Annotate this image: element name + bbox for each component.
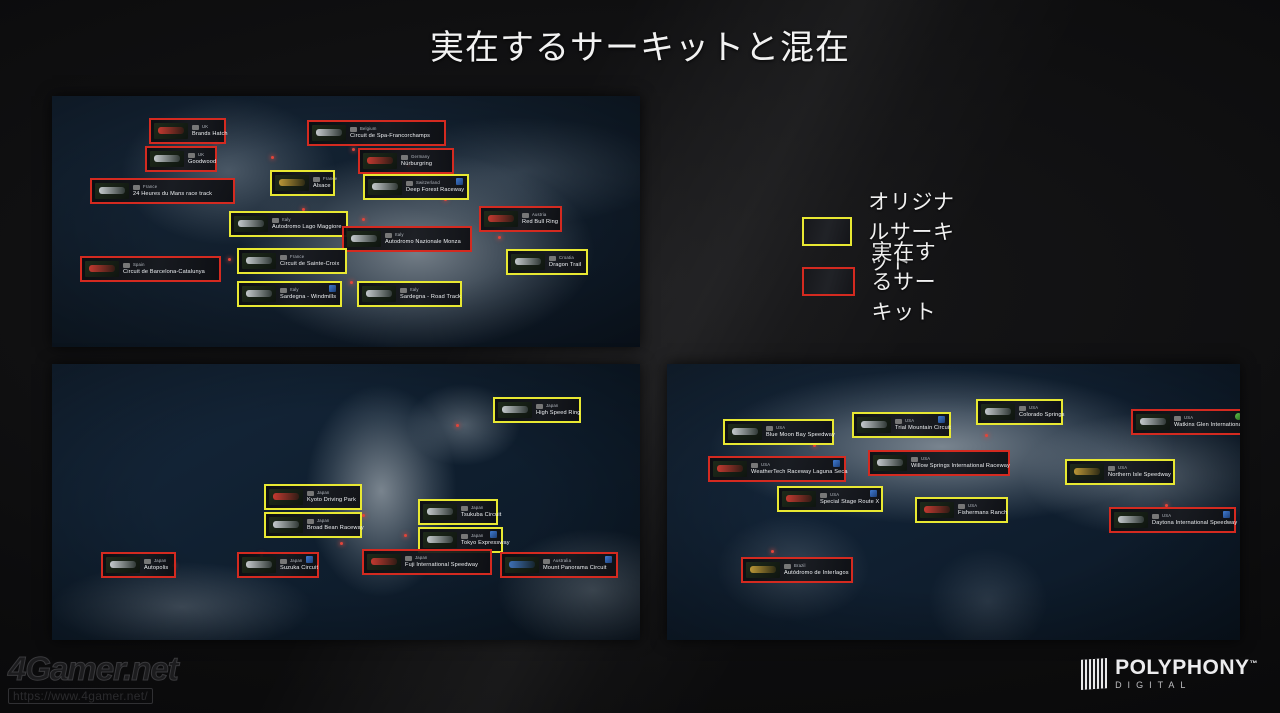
circuit-badge-icon: [456, 178, 463, 185]
circuit-thumbnail-icon: [95, 183, 129, 199]
circuit-thumbnail-icon: [269, 517, 303, 533]
watermark-brand: 4Gamer.net: [8, 652, 178, 686]
circuit-name-label: Mount Panorama Circuit: [543, 564, 600, 572]
circuit-text: USAWatkins Glen International: [1174, 415, 1230, 429]
map-poi: [771, 550, 774, 553]
circuit-name-label: Autódromo de Interlagos: [784, 569, 847, 577]
presentation-slide: 実在するサーキットと混在 UKBrands HatchUKGoodwoodFra…: [0, 0, 1280, 713]
circuit-name-label: Circuit de Spa-Francorchamps: [350, 132, 430, 140]
circuit-marker[interactable]: JapanFuji International Speedway: [362, 549, 492, 575]
circuit-text: JapanFuji International Speedway: [405, 555, 478, 569]
circuit-text: UKBrands Hatch: [192, 124, 220, 138]
circuit-badge-icon: [1223, 511, 1230, 518]
circuit-thumbnail-icon: [275, 175, 309, 191]
circuit-name-label: Alsace: [313, 182, 329, 190]
country-flag-icon: [461, 534, 468, 539]
circuit-marker[interactable]: JapanKyoto Driving Park: [264, 484, 362, 510]
circuit-thumbnail-icon: [150, 151, 184, 167]
country-flag-icon: [313, 177, 320, 182]
circuit-thumbnail-icon: [423, 532, 457, 548]
circuit-marker[interactable]: UKGoodwood: [145, 146, 217, 172]
circuit-marker[interactable]: UKBrands Hatch: [149, 118, 226, 144]
country-flag-icon: [784, 564, 791, 569]
country-flag-icon: [536, 404, 543, 409]
circuit-badge-icon: [490, 531, 497, 538]
circuit-thumbnail-icon: [242, 557, 276, 573]
map-poi: [350, 281, 353, 284]
circuit-marker[interactable]: BrazilAutódromo de Interlagos: [741, 557, 853, 583]
circuit-thumbnail-icon: [269, 489, 303, 505]
legend-item-real: 実在するサーキット: [802, 236, 957, 326]
country-flag-icon: [1174, 416, 1181, 421]
circuit-name-label: Autodromo Lago Maggiore: [272, 223, 342, 231]
circuit-text: SwitzerlandDeep Forest Raceway: [406, 180, 451, 194]
circuit-marker[interactable]: SpainCircuit de Barcelona-Catalunya: [80, 256, 221, 282]
circuit-text: SpainCircuit de Barcelona-Catalunya: [123, 262, 205, 276]
country-flag-icon: [400, 288, 407, 293]
circuit-name-label: Goodwood: [188, 158, 211, 166]
circuit-badge-icon: [938, 416, 945, 423]
circuit-thumbnail-icon: [367, 554, 401, 570]
country-flag-icon: [406, 181, 413, 186]
circuit-name-label: Circuit de Barcelona-Catalunya: [123, 268, 205, 276]
map-poi: [985, 434, 988, 437]
circuit-text: USAColorado Springs: [1019, 405, 1057, 419]
circuit-thumbnail-icon: [728, 424, 762, 440]
circuit-text: JapanSuzuka Circuit: [280, 558, 301, 572]
circuit-name-label: Willow Springs International Raceway: [911, 462, 1004, 470]
circuit-thumbnail-icon: [746, 562, 780, 578]
country-flag-icon: [280, 255, 287, 260]
map-poi: [404, 534, 407, 537]
circuit-text: JapanBroad Bean Raceway: [307, 518, 356, 532]
map-poi: [362, 218, 365, 221]
circuit-text: CroatiaDragon Trail: [549, 255, 581, 269]
circuit-name-label: 24 Heures du Mans race track: [133, 190, 212, 198]
circuit-marker[interactable]: AustriaRed Bull Ring: [479, 206, 562, 232]
circuit-name-label: Brands Hatch: [192, 130, 220, 138]
country-flag-icon: [958, 504, 965, 509]
circuit-badge-icon: [306, 556, 313, 563]
country-flag-icon: [350, 127, 357, 132]
circuit-text: France24 Heures du Mans race track: [133, 184, 212, 198]
circuit-marker[interactable]: USADaytona International Speedway: [1109, 507, 1236, 533]
circuit-text: ItalyAutodromo Lago Maggiore: [272, 217, 342, 231]
circuit-text: USAWillow Springs International Raceway: [911, 456, 1004, 470]
circuit-marker[interactable]: CroatiaDragon Trail: [506, 249, 588, 275]
map-panel-japan[interactable]: JapanHigh Speed RingJapanKyoto Driving P…: [52, 364, 640, 640]
watermark-4gamer: 4Gamer.net https://www.4gamer.net/: [8, 652, 178, 705]
circuit-name-label: Tsukuba Circuit: [461, 511, 492, 519]
circuit-marker[interactable]: USANorthern Isle Speedway: [1065, 459, 1175, 485]
circuit-thumbnail-icon: [1136, 414, 1170, 430]
circuit-marker[interactable]: SwitzerlandDeep Forest Raceway: [363, 174, 469, 200]
polyphony-subtitle: DIGITAL: [1115, 681, 1258, 690]
circuit-badge-icon: [329, 285, 336, 292]
circuit-name-label: WeatherTech Raceway Laguna Seca: [751, 468, 828, 476]
circuit-text: JapanKyoto Driving Park: [307, 490, 356, 504]
circuit-thumbnail-icon: [423, 504, 457, 520]
circuit-thumbnail-icon: [312, 125, 346, 141]
country-flag-icon: [461, 506, 468, 511]
polyphony-name: POLYPHONY™: [1115, 657, 1258, 678]
circuit-text: ItalySardegna - Windmills: [280, 287, 324, 301]
country-flag-icon: [188, 153, 195, 158]
country-flag-icon: [385, 233, 392, 238]
country-flag-icon: [1152, 514, 1159, 519]
map-panel-americas[interactable]: USABlue Moon Bay SpeedwayUSATrial Mounta…: [667, 364, 1240, 640]
circuit-thumbnail-icon: [106, 557, 140, 573]
circuit-text: ItalyAutodromo Nazionale Monza: [385, 232, 461, 246]
circuit-marker[interactable]: USAColorado Springs: [976, 399, 1063, 425]
circuit-thumbnail-icon: [242, 253, 276, 269]
circuit-name-label: Autodromo Nazionale Monza: [385, 238, 461, 246]
circuit-marker[interactable]: USAWillow Springs International Raceway: [868, 450, 1010, 476]
circuit-thumbnail-icon: [362, 286, 396, 302]
page-title: 実在するサーキットと混在: [0, 20, 1280, 69]
circuit-text: BelgiumCircuit de Spa-Francorchamps: [350, 126, 430, 140]
circuit-thumbnail-icon: [368, 179, 402, 195]
circuit-name-label: Nürburgring: [401, 160, 432, 168]
country-flag-icon: [272, 218, 279, 223]
circuit-marker[interactable]: USASpecial Stage Route X: [777, 486, 883, 512]
country-flag-icon: [1019, 406, 1026, 411]
circuit-text: GermanyNürburgring: [401, 154, 432, 168]
country-flag-icon: [751, 463, 758, 468]
circuit-name-label: Daytona International Speedway: [1152, 519, 1218, 527]
circuit-thumbnail-icon: [498, 402, 532, 418]
country-flag-icon: [401, 155, 408, 160]
circuit-name-label: Broad Bean Raceway: [307, 524, 356, 532]
country-flag-icon: [1108, 466, 1115, 471]
circuit-text: USATrial Mountain Circuit: [895, 418, 933, 432]
map-poi: [352, 148, 355, 151]
circuit-marker[interactable]: BelgiumCircuit de Spa-Francorchamps: [307, 120, 446, 146]
circuit-thumbnail-icon: [484, 211, 518, 227]
circuit-text: UKGoodwood: [188, 152, 211, 166]
circuit-text: USADaytona International Speedway: [1152, 513, 1218, 527]
circuit-marker[interactable]: AustraliaMount Panorama Circuit: [500, 552, 618, 578]
circuit-name-label: Autopolis: [144, 564, 168, 572]
circuit-name-label: High Speed Ring: [536, 409, 575, 417]
map-poi: [228, 258, 231, 261]
circuit-thumbnail-icon: [857, 417, 891, 433]
circuit-text: FranceAlsace: [313, 176, 329, 190]
circuit-thumbnail-icon: [920, 502, 954, 518]
circuit-marker[interactable]: USAFishermans Ranch: [915, 497, 1008, 523]
circuit-text: JapanTsukuba Circuit: [461, 505, 492, 519]
map-panel-europe[interactable]: UKBrands HatchUKGoodwoodFrance24 Heures …: [52, 96, 640, 347]
country-flag-icon: [144, 559, 151, 564]
circuit-name-label: Watkins Glen International: [1174, 421, 1230, 429]
circuit-marker[interactable]: JapanHigh Speed Ring: [493, 397, 581, 423]
circuit-marker[interactable]: JapanSuzuka Circuit: [237, 552, 319, 578]
circuit-name-label: Deep Forest Raceway: [406, 186, 451, 194]
circuit-text: JapanHigh Speed Ring: [536, 403, 575, 417]
country-flag-icon: [307, 519, 314, 524]
circuit-marker[interactable]: JapanAutopolis: [101, 552, 176, 578]
circuit-thumbnail-icon: [242, 286, 276, 302]
legend-label-real: 実在するサーキット: [871, 236, 956, 326]
circuit-marker[interactable]: JapanBroad Bean Raceway: [264, 512, 362, 538]
circuit-thumbnail-icon: [363, 153, 397, 169]
country-flag-icon: [549, 256, 556, 261]
circuit-thumbnail-icon: [782, 491, 816, 507]
circuit-name-label: Fuji International Speedway: [405, 561, 478, 569]
circuit-name-label: Red Bull Ring: [522, 218, 556, 226]
map-poi: [456, 424, 459, 427]
circuit-text: USAFishermans Ranch: [958, 503, 1002, 517]
circuit-text: BrazilAutódromo de Interlagos: [784, 563, 847, 577]
circuit-thumbnail-icon: [981, 404, 1015, 420]
polyphony-mark-icon: [1081, 658, 1107, 690]
circuit-marker[interactable]: FranceCircuit de Sainte-Croix: [237, 248, 347, 274]
country-flag-icon: [123, 263, 130, 268]
circuit-text: AustraliaMount Panorama Circuit: [543, 558, 600, 572]
circuit-name-label: Trial Mountain Circuit: [895, 424, 933, 432]
circuit-thumbnail-icon: [873, 455, 907, 471]
country-flag-icon: [133, 185, 140, 190]
circuit-name-label: Blue Moon Bay Speedway: [766, 431, 828, 439]
watermark-url: https://www.4gamer.net/: [8, 688, 153, 704]
circuit-name-label: Sardegna - Road Track: [400, 293, 456, 301]
circuit-name-label: Fishermans Ranch: [958, 509, 1002, 517]
country-flag-icon: [307, 491, 314, 496]
circuit-thumbnail-icon: [85, 261, 119, 277]
circuit-text: ItalySardegna - Road Track: [400, 287, 456, 301]
circuit-text: FranceCircuit de Sainte-Croix: [280, 254, 339, 268]
circuit-thumbnail-icon: [505, 557, 539, 573]
circuit-marker[interactable]: France24 Heures du Mans race track: [90, 178, 235, 204]
circuit-text: USANorthern Isle Speedway: [1108, 465, 1169, 479]
circuit-marker[interactable]: FranceAlsace: [270, 170, 335, 196]
polyphony-wordmark: POLYPHONY™ DIGITAL: [1115, 657, 1258, 690]
polyphony-digital-logo: POLYPHONY™ DIGITAL: [1081, 657, 1258, 690]
map-poi: [498, 236, 501, 239]
circuit-thumbnail-icon: [154, 123, 188, 139]
circuit-name-label: Colorado Springs: [1019, 411, 1057, 419]
circuit-badge-icon: [870, 490, 877, 497]
map-poi: [340, 542, 343, 545]
circuit-thumbnail-icon: [511, 254, 545, 270]
circuit-text: AustriaRed Bull Ring: [522, 212, 556, 226]
circuit-name-label: Dragon Trail: [549, 261, 581, 269]
circuit-thumbnail-icon: [1070, 464, 1104, 480]
circuit-badge-icon: [833, 460, 840, 467]
map-poi: [271, 156, 274, 159]
circuit-text: USABlue Moon Bay Speedway: [766, 425, 828, 439]
circuit-marker[interactable]: USATrial Mountain Circuit: [852, 412, 951, 438]
circuit-name-label: Circuit de Sainte-Croix: [280, 260, 339, 268]
country-flag-icon: [192, 125, 199, 130]
circuit-text: JapanTokyo Expressway: [461, 533, 485, 547]
circuit-name-label: Kyoto Driving Park: [307, 496, 356, 504]
circuit-name-label: Sardegna - Windmills: [280, 293, 324, 301]
circuit-marker[interactable]: USAWatkins Glen International: [1131, 409, 1240, 435]
country-flag-icon: [766, 426, 773, 431]
circuit-name-label: Special Stage Route X: [820, 498, 865, 506]
country-flag-icon: [522, 213, 529, 218]
map-poi: [362, 514, 365, 517]
circuit-marker[interactable]: GermanyNürburgring: [358, 148, 454, 174]
circuit-badge-icon: [1235, 413, 1240, 420]
country-flag-icon: [820, 493, 827, 498]
circuit-name-label: Tokyo Expressway: [461, 539, 485, 547]
country-flag-icon: [543, 559, 550, 564]
polyphony-name-text: POLYPHONY: [1115, 656, 1249, 679]
circuit-marker[interactable]: JapanTsukuba Circuit: [418, 499, 498, 525]
country-flag-icon: [280, 559, 287, 564]
circuit-text: USASpecial Stage Route X: [820, 492, 865, 506]
country-flag-icon: [405, 556, 412, 561]
circuit-marker[interactable]: ItalySardegna - Road Track: [357, 281, 462, 307]
circuit-badge-icon: [605, 556, 612, 563]
circuit-marker[interactable]: ItalySardegna - Windmills: [237, 281, 342, 307]
circuit-text: USAWeatherTech Raceway Laguna Seca: [751, 462, 828, 476]
country-flag-icon: [895, 419, 902, 424]
legend-swatch-real: [802, 267, 855, 296]
circuit-text: JapanAutopolis: [144, 558, 168, 572]
circuit-thumbnail-icon: [1114, 512, 1148, 528]
circuit-marker[interactable]: USAWeatherTech Raceway Laguna Seca: [708, 456, 846, 482]
circuit-thumbnail-icon: [347, 231, 381, 247]
circuit-thumbnail-icon: [713, 461, 747, 477]
country-flag-icon: [280, 288, 287, 293]
circuit-thumbnail-icon: [234, 216, 268, 232]
circuit-name-label: Suzuka Circuit: [280, 564, 301, 572]
circuit-name-label: Northern Isle Speedway: [1108, 471, 1169, 479]
circuit-marker[interactable]: ItalyAutodromo Lago Maggiore: [229, 211, 348, 237]
circuit-marker[interactable]: ItalyAutodromo Nazionale Monza: [342, 226, 472, 252]
country-flag-icon: [911, 457, 918, 462]
trademark-icon: ™: [1250, 659, 1259, 668]
circuit-marker[interactable]: USABlue Moon Bay Speedway: [723, 419, 834, 445]
